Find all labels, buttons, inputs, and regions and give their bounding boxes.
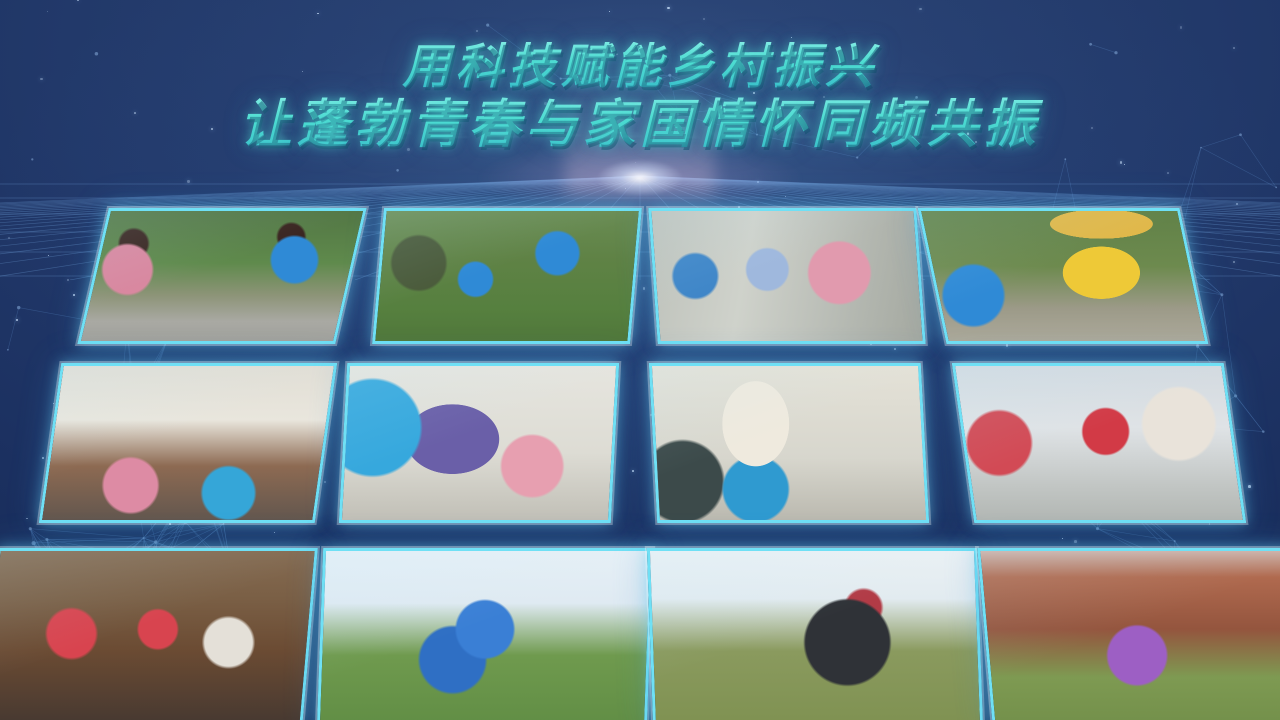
photo-card — [339, 363, 619, 523]
photo-image — [77, 208, 366, 344]
photo-card — [648, 208, 926, 344]
photo-image — [647, 548, 983, 720]
photo-card — [39, 363, 337, 523]
photo-image — [317, 548, 653, 720]
photo-card — [317, 548, 653, 720]
photo-card — [0, 548, 318, 720]
photo-card — [918, 208, 1209, 344]
photo-card — [647, 548, 983, 720]
photo-card — [977, 548, 1280, 720]
photo-card — [372, 208, 642, 344]
photo-image — [648, 208, 926, 344]
photo-card — [649, 363, 929, 523]
photo-image — [339, 363, 619, 523]
photo-image — [977, 548, 1280, 720]
photo-image — [952, 363, 1246, 523]
photo-image — [372, 208, 642, 344]
photo-image — [0, 548, 318, 720]
photo-card — [952, 363, 1246, 523]
photo-image — [39, 363, 337, 523]
poster-stage: 用科技赋能乡村振兴 让蓬勃青春与家国情怀同频共振 让蓬勃青春与家国情怀同频共振 — [0, 0, 1280, 720]
photo-card — [77, 208, 366, 344]
photo-image — [918, 208, 1209, 344]
photo-image — [649, 363, 929, 523]
photo-gallery-grid — [0, 0, 1280, 720]
